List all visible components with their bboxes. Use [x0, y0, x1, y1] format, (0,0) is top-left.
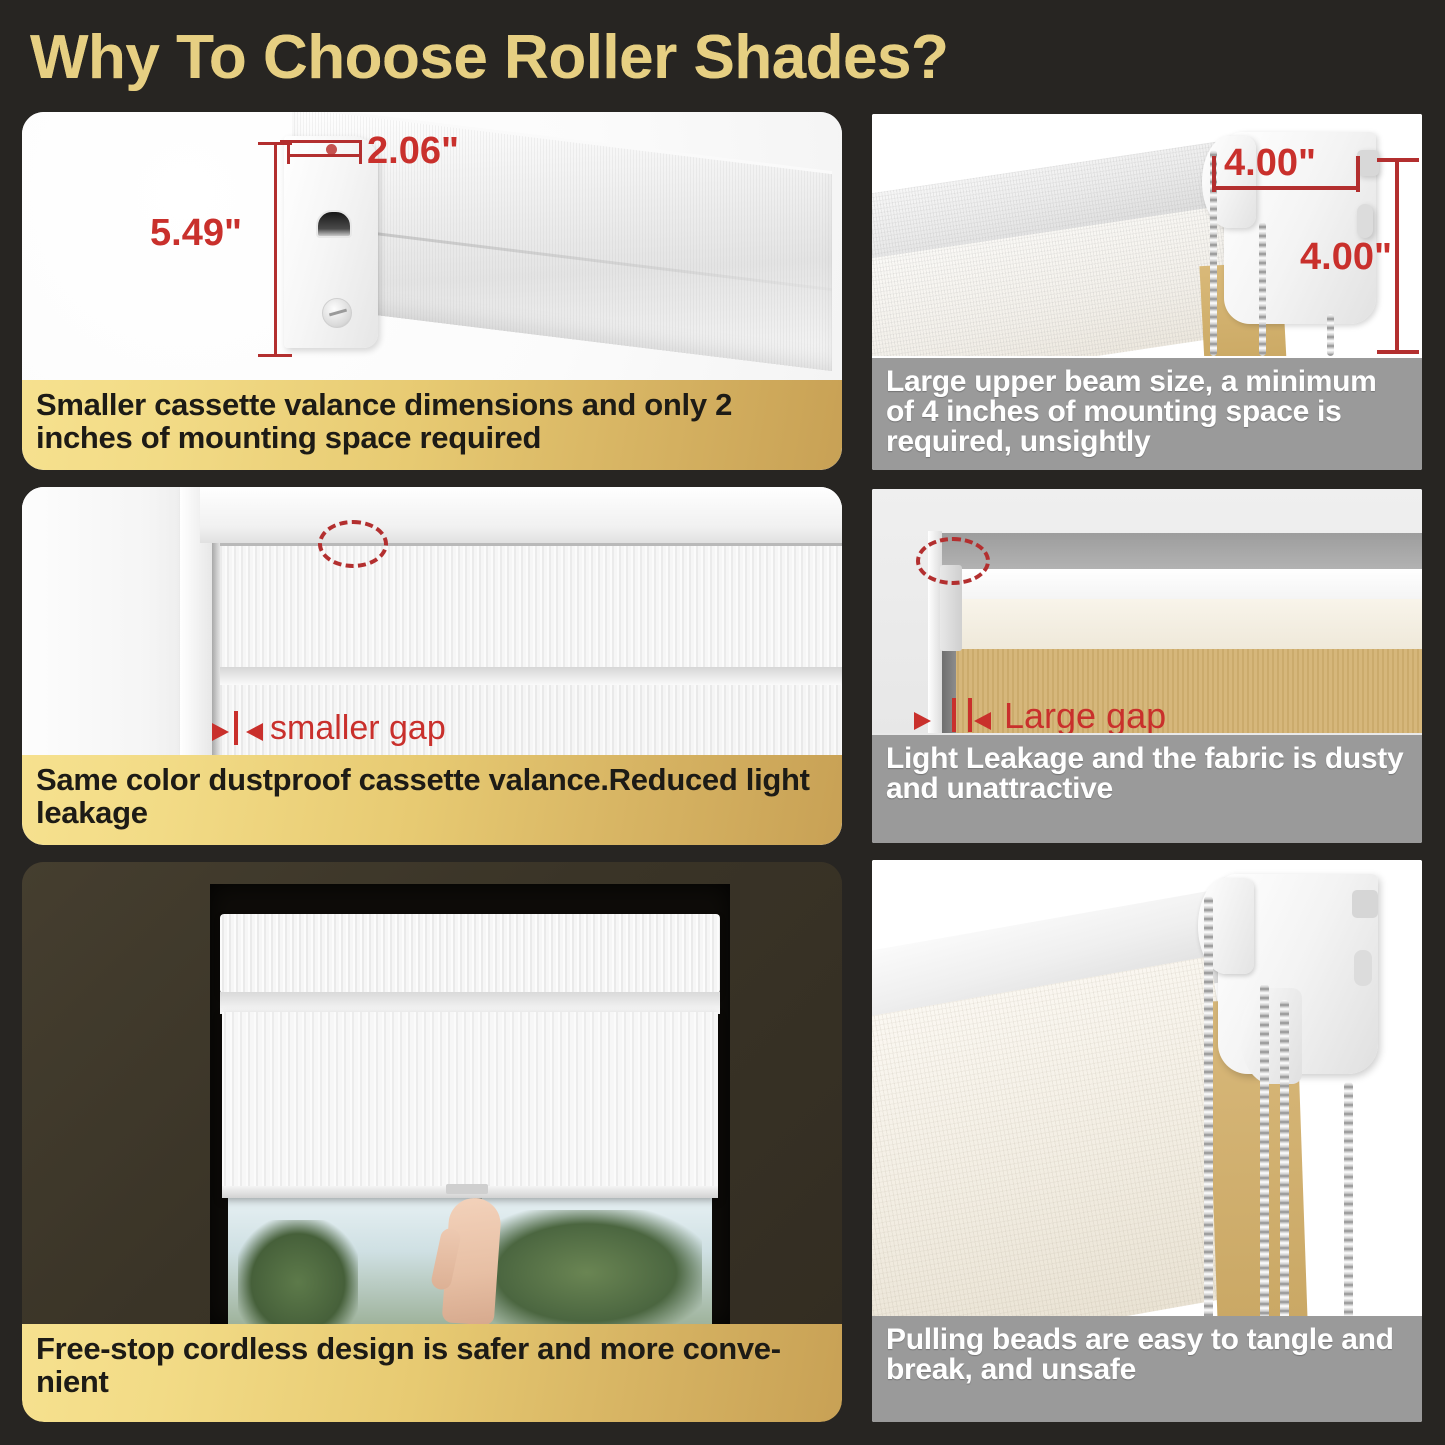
beam-height-dim-line: [1395, 158, 1399, 354]
page-title: Why To Choose Roller Shades?: [30, 22, 948, 93]
width-dim-extension-top: [280, 140, 362, 143]
beam-width-tick-right: [1356, 156, 1360, 192]
height-dimension-label: 5.49": [150, 212, 242, 255]
fabric-cream-band: [950, 599, 1422, 649]
caption-text: Smaller cassette valance dimensions and …: [36, 389, 828, 455]
height-dim-tick-top: [258, 142, 292, 145]
caption-bar-large-gap: Light Leakage and the fabric is dusty an…: [872, 735, 1422, 843]
bead-chain-right: [1344, 1082, 1353, 1322]
endcap-slot: [316, 210, 352, 238]
valance-bottom-lip: [220, 992, 720, 1014]
valance-endcap-graphic: [284, 136, 378, 348]
gap-marker-line-left: [952, 698, 956, 732]
beam-bracket-tab-upper: [1357, 150, 1379, 176]
bead-chain-mid-2: [1280, 1000, 1289, 1322]
gap-arrow-left: [212, 723, 229, 741]
height-dim-tick-bottom: [258, 354, 292, 357]
width-dim-tick-right: [359, 140, 362, 164]
panel-smaller-gap: smaller gap Same color dustproof cassett…: [22, 487, 842, 845]
gap-highlight-circle: [318, 520, 388, 568]
gap-arrow-right: [974, 712, 991, 730]
bead-chain-mid: [1260, 984, 1269, 1322]
panel-pulling-beads: Pulling beads are easy to tangle and bre…: [872, 860, 1422, 1422]
photo-window-frame-smaller-gap: smaller gap: [22, 487, 842, 755]
panel-large-gap: Large gap Light Leakage and the fabric i…: [872, 489, 1422, 843]
height-dim-line: [274, 142, 277, 357]
shade-fabric-upper: [218, 543, 842, 673]
caption-bar-cordless: Free-stop cordless design is safer and m…: [22, 1324, 842, 1422]
photo-window-with-shade: [22, 862, 842, 1324]
caption-text: Light Leakage and the fabric is dusty an…: [886, 744, 1408, 804]
caption-bar-cassette: Smaller cassette valance dimensions and …: [22, 380, 842, 470]
cassette-valance-top: [220, 914, 720, 994]
bracket-endcap-disc-lower: [1240, 988, 1302, 1084]
photo-beaded-chain-shade: [872, 860, 1422, 1322]
gap-callout-label: smaller gap: [270, 709, 446, 748]
beam-bracket-tab-lower: [1357, 204, 1373, 238]
gap-marker-line-right: [968, 698, 972, 732]
shade-rail-middle: [218, 667, 842, 685]
width-dim-line: [287, 154, 362, 157]
photo-large-gap: Large gap: [872, 489, 1422, 733]
tree-left: [238, 1220, 358, 1324]
window-frame-header: [200, 487, 842, 543]
photo-cassette-valance: 2.06" 5.49": [22, 112, 842, 380]
beam-width-dim-line: [1212, 186, 1360, 190]
header-bar: Why To Choose Roller Shades?: [0, 0, 1445, 108]
shade-fabric-panel: [222, 1012, 718, 1196]
window-frame-outer: [22, 487, 202, 755]
shade-pull-tab: [446, 1184, 488, 1194]
bead-chain-right: [1327, 314, 1334, 356]
beam-width-tick-left: [1212, 156, 1216, 192]
caption-text: Large upper beam size, a minimum of 4 in…: [886, 367, 1408, 457]
gap-callout-label: Large gap: [1004, 695, 1166, 733]
beam-height-tick-bottom: [1377, 350, 1419, 354]
bracket-tab-lower: [1354, 950, 1372, 986]
gap-arrow-right: [246, 723, 263, 741]
caption-text: Pulling beads are easy to tangle and bre…: [886, 1325, 1408, 1385]
beam-height-label: 4.00": [1300, 236, 1392, 279]
bead-chain-mid: [1259, 222, 1266, 356]
beam-height-tick-top: [1377, 158, 1419, 162]
panel-large-beam: 4.00" 4.00" Large upper beam size, a min…: [872, 114, 1422, 470]
gap-highlight-circle: [916, 537, 990, 585]
endcap-screw: [322, 298, 352, 328]
caption-bar-large-beam: Large upper beam size, a minimum of 4 in…: [872, 358, 1422, 470]
caption-text: Free-stop cordless design is safer and m…: [36, 1333, 828, 1399]
caption-bar-pulling-beads: Pulling beads are easy to tangle and bre…: [872, 1316, 1422, 1422]
bracket-tab-upper: [1352, 890, 1378, 918]
caption-text: Same color dustproof cassette valance.Re…: [36, 764, 828, 830]
gap-marker-line: [234, 711, 238, 745]
caption-bar-smaller-gap: Same color dustproof cassette valance.Re…: [22, 755, 842, 845]
width-dimension-label: 2.06": [367, 130, 459, 173]
panel-cassette-dimensions: 2.06" 5.49" Smaller cassette valance dim…: [22, 112, 842, 470]
bead-chain-left: [1204, 896, 1213, 1322]
beam-width-label: 4.00": [1224, 142, 1316, 185]
photo-large-upper-beam: 4.00" 4.00": [872, 114, 1422, 356]
gap-arrow-left: [914, 712, 931, 730]
tree-right: [492, 1210, 702, 1324]
panel-cordless-window-scene: Free-stop cordless design is safer and m…: [22, 862, 842, 1422]
